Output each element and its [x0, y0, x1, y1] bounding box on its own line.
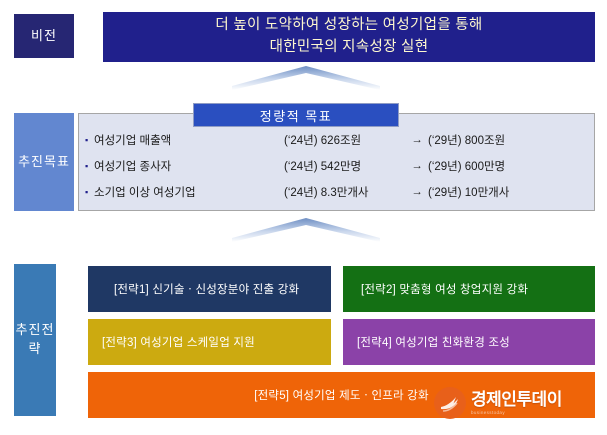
bullet-icon: ▪ — [85, 136, 94, 145]
goal-target-value: (‘29년) 600만명 — [428, 158, 505, 174]
vision-line-2: 대한민국의 지속성장 실현 — [270, 37, 429, 59]
goal-name: 여성기업 종사자 — [94, 158, 284, 174]
goals-box: ▪ 여성기업 매출액 (‘24년) 626조원 → (‘29년) 800조원 ▪… — [78, 113, 595, 211]
goals-side-label: 추진목표 — [14, 113, 74, 211]
down-arrow-icon-bottom — [232, 216, 380, 242]
strategy-box-2[interactable]: [전략2] 맞춤형 여성 창업지원 강화 — [343, 266, 595, 312]
down-arrow-icon-top — [232, 64, 380, 90]
strategy-box-5[interactable]: [전략5] 여성기업 제도ㆍ인프라 강화 — [88, 372, 595, 418]
strategy-side-label: 추진전략 — [14, 264, 56, 416]
bullet-icon: ▪ — [85, 188, 94, 197]
bullet-icon: ▪ — [85, 162, 94, 171]
vision-line-1: 더 높이 도약하여 성장하는 여성기업을 통해 — [215, 15, 482, 37]
goal-row: ▪ 소기업 이상 여성기업 (‘24년) 8.3만개사 → (‘29년) 10만… — [85, 179, 586, 205]
strategy-box-1[interactable]: [전략1] 신기술ㆍ신성장분야 진출 강화 — [88, 266, 331, 312]
right-arrow-icon: → — [406, 160, 428, 172]
goal-row: ▪ 여성기업 매출액 (‘24년) 626조원 → (‘29년) 800조원 — [85, 127, 586, 153]
goal-baseline-value: (‘24년) 626조원 — [284, 132, 406, 148]
goal-baseline-value: (‘24년) 8.3만개사 — [284, 184, 406, 200]
goal-name: 소기업 이상 여성기업 — [94, 184, 284, 200]
goal-baseline-value: (‘24년) 542만명 — [284, 158, 406, 174]
goal-target-value: (‘29년) 10만개사 — [428, 184, 509, 200]
strategy-box-3[interactable]: [전략3] 여성기업 스케일업 지원 — [88, 319, 331, 365]
goal-row: ▪ 여성기업 종사자 (‘24년) 542만명 → (‘29년) 600만명 — [85, 153, 586, 179]
goal-name: 여성기업 매출액 — [94, 132, 284, 148]
quantitative-goals-banner: 정량적 목표 — [193, 103, 399, 127]
strategy-box-4[interactable]: [전략4] 여성기업 친화환경 조성 — [343, 319, 595, 365]
right-arrow-icon: → — [406, 134, 428, 146]
vision-side-label: 비전 — [14, 14, 74, 58]
vision-banner: 더 높이 도약하여 성장하는 여성기업을 통해 대한민국의 지속성장 실현 — [103, 12, 595, 62]
goal-target-value: (‘29년) 800조원 — [428, 132, 505, 148]
slide-canvas: 비전 더 높이 도약하여 성장하는 여성기업을 통해 대한민국의 지속성장 실현… — [0, 0, 607, 435]
right-arrow-icon: → — [406, 186, 428, 198]
